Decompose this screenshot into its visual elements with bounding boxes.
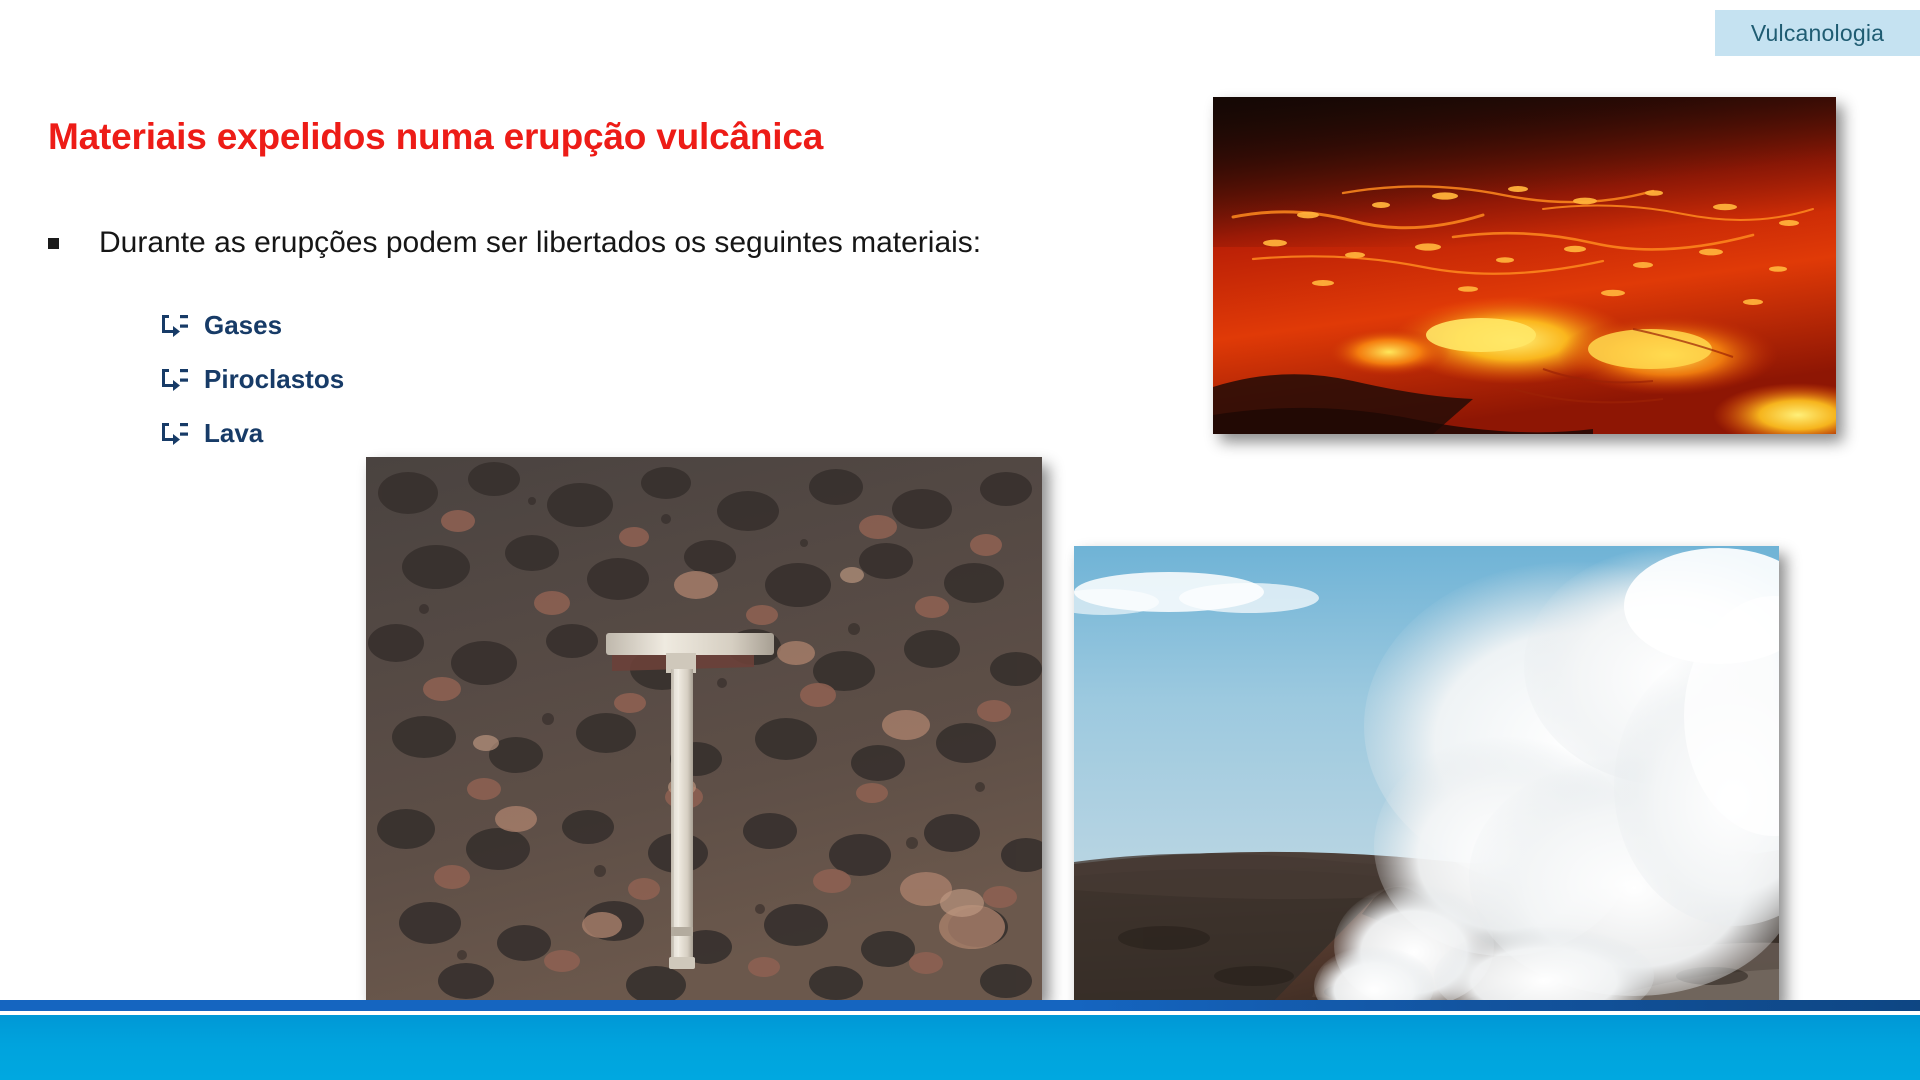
sub-bullet-label: Lava [204,418,263,449]
header-badge-label: Vulcanologia [1751,20,1884,47]
page-title: Materiais expelidos numa erupção vulcâni… [48,116,823,158]
square-bullet-icon [48,238,59,249]
lava-lake-photo [1213,97,1836,434]
arrow-right-bullet-icon [160,313,190,339]
list-item: Piroclastos [160,364,344,395]
main-bullet-row: Durante as erupções podem ser libertados… [48,225,981,261]
main-bullet-text: Durante as erupções podem ser libertados… [99,225,981,261]
footer-accent-stripe [0,1000,1920,1011]
arrow-right-bullet-icon [160,367,190,393]
header-badge: Vulcanologia [1715,10,1920,56]
volcanic-gases-photo [1074,546,1779,1005]
arrow-right-bullet-icon [160,421,190,447]
sub-bullet-label: Gases [204,310,282,341]
list-item: Gases [160,310,344,341]
sub-bullet-label: Piroclastos [204,364,344,395]
pyroclasts-photo [366,457,1042,1000]
footer-band [0,1015,1920,1080]
sub-bullet-list: Gases Piroclastos Lava [160,310,344,472]
list-item: Lava [160,418,344,449]
